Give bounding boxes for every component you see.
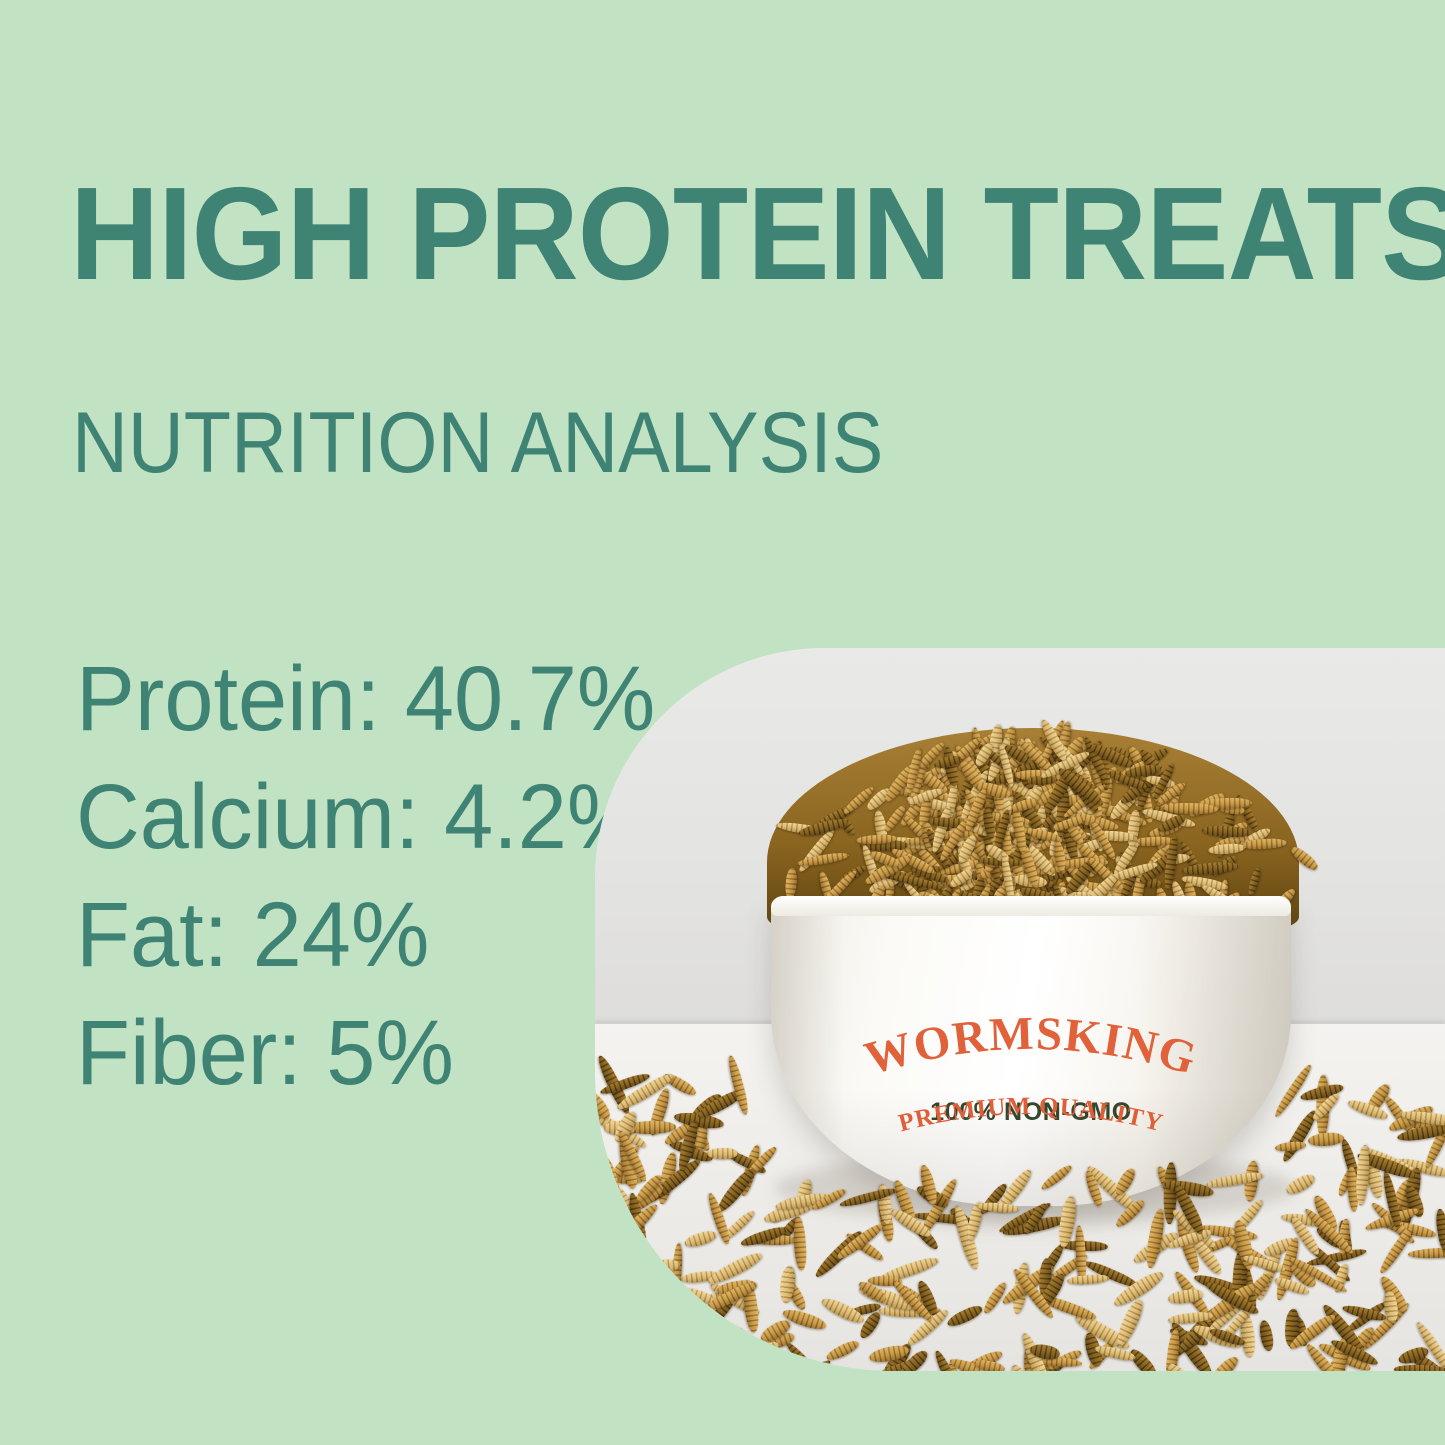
page-title: HIGH PROTEIN TREATS bbox=[70, 168, 1445, 300]
larva bbox=[1039, 1163, 1074, 1193]
larva bbox=[1258, 1320, 1275, 1353]
larva bbox=[1284, 1172, 1317, 1198]
bowl-rim bbox=[771, 896, 1291, 916]
larva bbox=[667, 1306, 699, 1317]
larva bbox=[1354, 1144, 1371, 1206]
larva bbox=[1066, 1274, 1108, 1286]
larva bbox=[796, 851, 849, 868]
larva bbox=[1210, 1353, 1242, 1371]
larva bbox=[1308, 1132, 1345, 1148]
larva bbox=[784, 866, 798, 899]
larva bbox=[792, 1216, 807, 1271]
larva bbox=[1408, 1246, 1445, 1259]
section-subtitle: NUTRITION ANALYSIS bbox=[72, 400, 883, 486]
product-infographic: HIGH PROTEIN TREATS NUTRITION ANALYSIS P… bbox=[0, 0, 1445, 1445]
scattered-larvae bbox=[595, 1078, 1445, 1371]
larva bbox=[683, 1229, 718, 1250]
larva bbox=[1247, 867, 1263, 897]
larva bbox=[1274, 1140, 1306, 1152]
product-photo: WORMSKING 100% NON-GMO PREMIUM QUALITY bbox=[595, 648, 1445, 1371]
larva bbox=[595, 1337, 622, 1357]
larva bbox=[825, 1338, 861, 1363]
larva bbox=[945, 1303, 985, 1331]
bowl-logo-brand: WORMSKING bbox=[859, 1014, 1203, 1085]
larva bbox=[1288, 844, 1320, 873]
